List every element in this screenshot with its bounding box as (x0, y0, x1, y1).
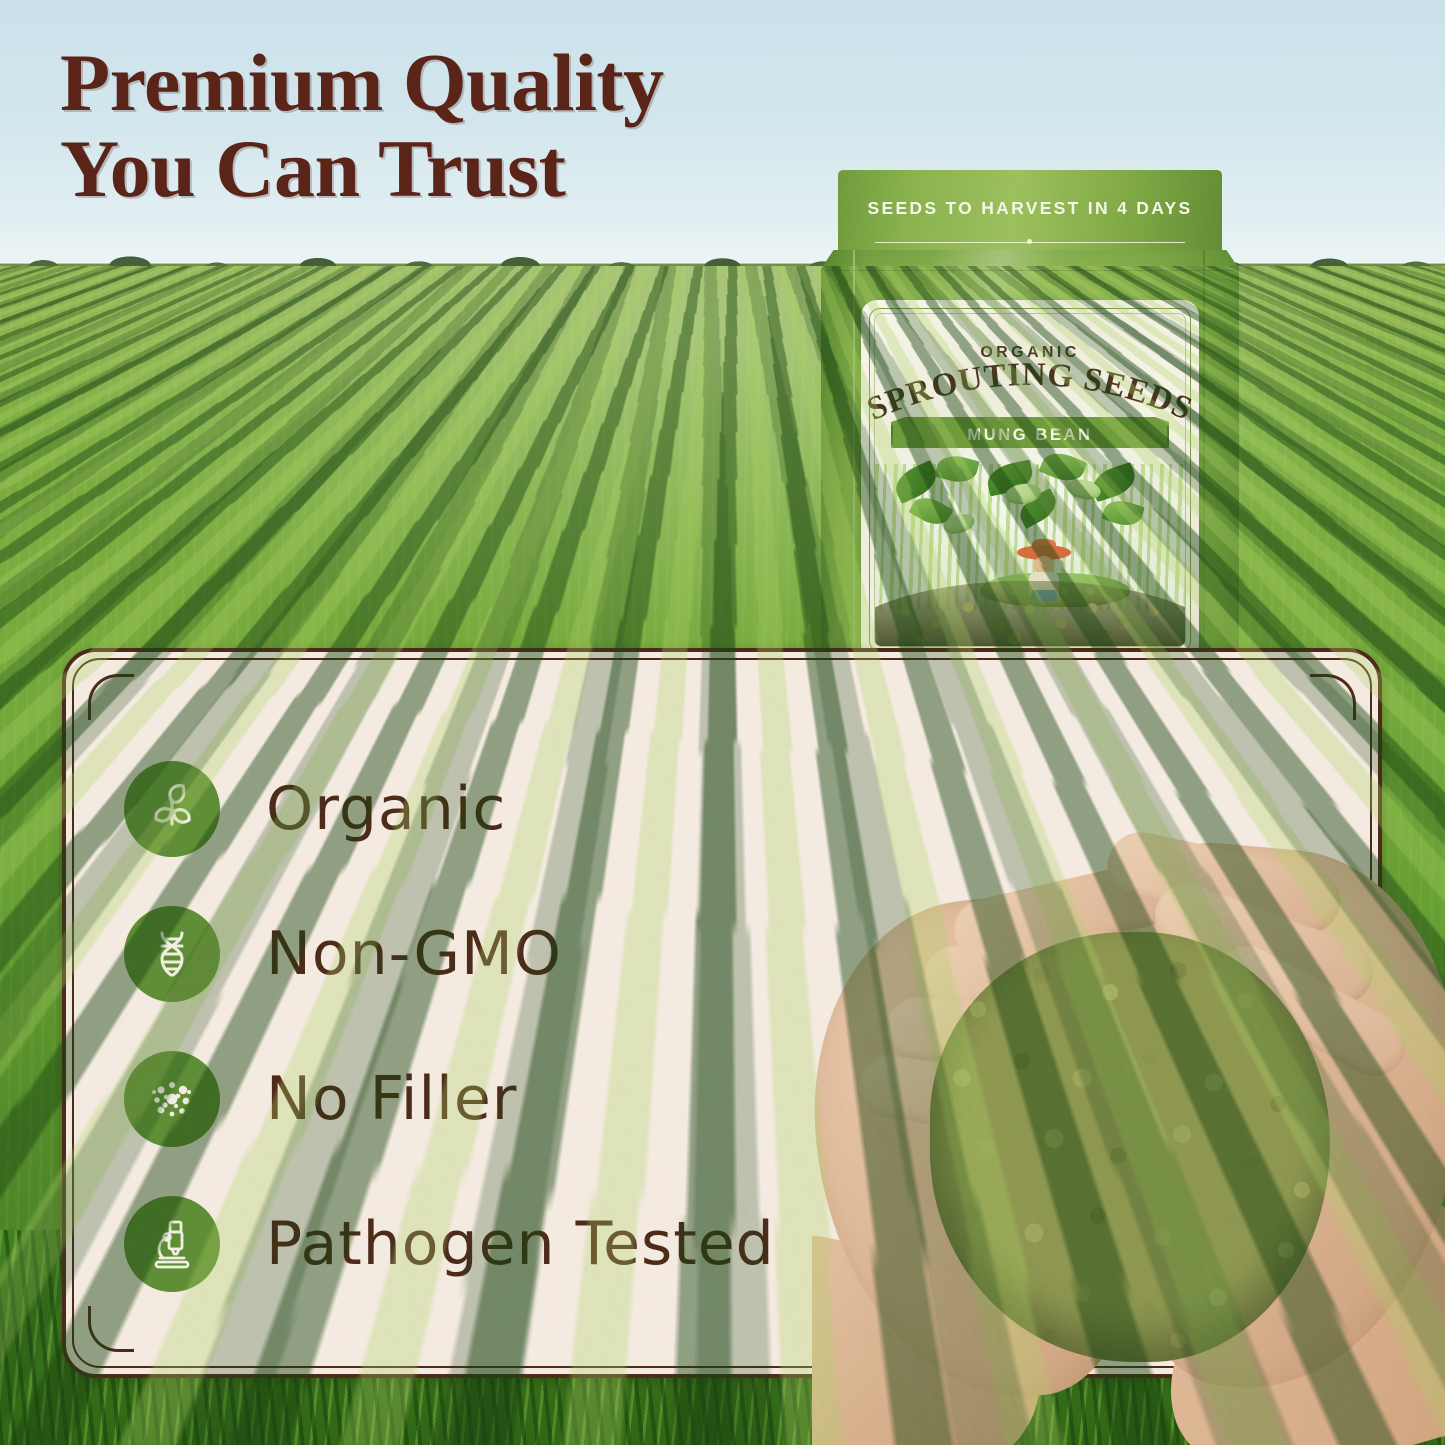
corner-ornament-top-left (88, 674, 134, 720)
feature-label: Organic (266, 774, 506, 844)
feature-item: Non-GMO (124, 895, 884, 1013)
feature-item: No Filler (124, 1040, 884, 1158)
headline-line-2: You Can Trust (60, 126, 860, 212)
product-marketing-image: Premium Quality You Can Trust SEEDS TO H… (0, 0, 1445, 1445)
label-variety-text: MUNG BEAN (967, 426, 1092, 445)
package-zipper-dot (1027, 239, 1032, 244)
feature-item: Organic (124, 750, 884, 868)
feature-item: Pathogen Tested (124, 1185, 884, 1303)
label-illustration (875, 448, 1185, 646)
microscope-icon (124, 1196, 220, 1292)
svg-text:SPROUTING SEEDS: SPROUTING SEEDS (862, 360, 1198, 422)
page-title: Premium Quality You Can Trust (60, 40, 860, 212)
dna-icon (124, 906, 220, 1002)
feature-label: No Filler (266, 1064, 517, 1134)
corner-ornament-top-right (1310, 674, 1356, 720)
label-product-arc: SPROUTING SEEDS (861, 360, 1199, 422)
feature-label: Non-GMO (266, 919, 562, 989)
mung-bean-heap (930, 932, 1330, 1362)
headline-line-1: Premium Quality (60, 37, 664, 128)
feature-label: Pathogen Tested (266, 1209, 775, 1279)
package-label: ORGANIC SPROUTING SEEDS MUNG BEAN (861, 300, 1199, 660)
feature-list: Organic Non-GMO (124, 750, 884, 1303)
leaves-icon (124, 761, 220, 857)
package-seam (825, 270, 1235, 271)
hands-holding-seeds-photo (812, 752, 1445, 1445)
corner-ornament-bottom-left (88, 1306, 134, 1352)
label-product-name: SPROUTING SEEDS (862, 360, 1198, 422)
particles-icon (124, 1051, 220, 1147)
package-tagline: SEEDS TO HARVEST IN 4 DAYS (838, 198, 1222, 219)
